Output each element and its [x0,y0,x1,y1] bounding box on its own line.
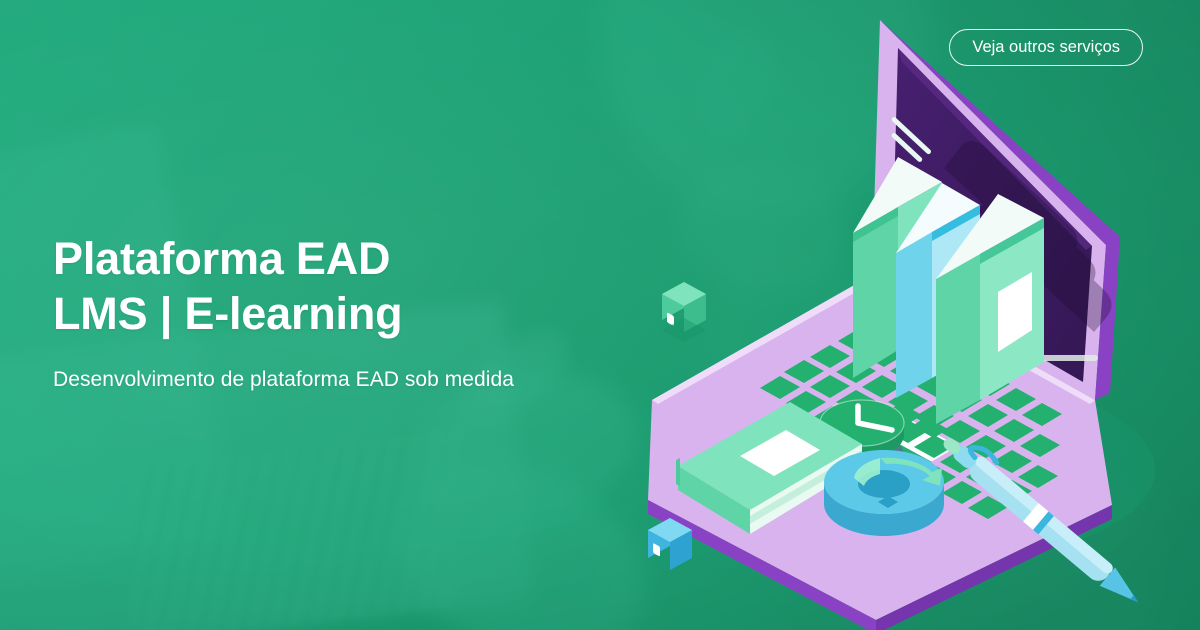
hero-subtitle: Desenvolvimento de plataforma EAD sob me… [53,368,514,392]
headline-line-2: LMS | E-learning [53,287,514,342]
illustration-laptop-elearning [640,0,1200,630]
page-title: Plataforma EAD LMS | E-learning [53,232,514,342]
hero-text-block: Plataforma EAD LMS | E-learning Desenvol… [53,232,514,392]
see-other-services-button[interactable]: Veja outros serviços [949,29,1143,66]
hero-banner: Veja outros serviços Plataforma EAD LMS … [0,0,1200,630]
headline-line-1: Plataforma EAD [53,233,390,284]
